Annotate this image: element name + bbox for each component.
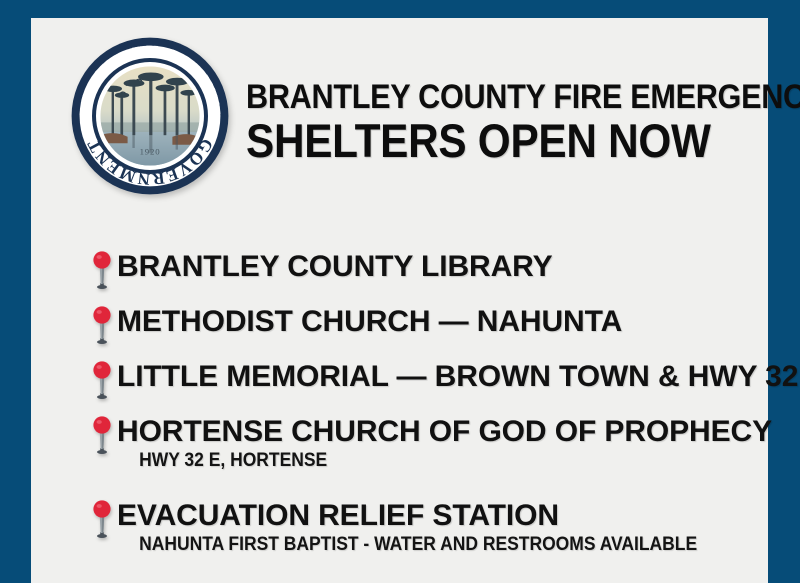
seal-year-text: 1920 [140,146,161,156]
map-pin-icon [89,415,115,455]
page-title-line-2: SHELTERS OPEN NOW [246,117,710,164]
poster-header: BRANTLEY COUNTY GOVERNMENT 1920 BRANTLEY… [31,18,768,218]
list-item: BRANTLEY COUNTY LIBRARY [31,250,768,284]
shelter-name: BRANTLEY COUNTY LIBRARY [117,250,553,283]
shelter-list: BRANTLEY COUNTY LIBRARY METHODIST CHURCH… [31,228,768,583]
brantley-county-government-seal-icon: BRANTLEY COUNTY GOVERNMENT 1920 [70,36,230,196]
list-item: HORTENSE CHURCH OF GOD OF PROPHECY HWY 3… [31,415,768,473]
shelter-name: METHODIST CHURCH — NAHUNTA [117,305,622,338]
poster-canvas: BRANTLEY COUNTY GOVERNMENT 1920 BRANTLEY… [31,18,768,583]
map-pin-icon [89,305,115,345]
list-item: EVACUATION RELIEF STATION NAHUNTA FIRST … [31,499,768,557]
shelter-name: EVACUATION RELIEF STATION [117,499,559,532]
county-seal: BRANTLEY COUNTY GOVERNMENT 1920 [70,36,230,196]
map-pin-icon [89,360,115,400]
list-item: LITTLE MEMORIAL — BROWN TOWN & HWY 32 [31,360,768,394]
page-title-line-1: BRANTLEY COUNTY FIRE EMERGENCY [246,80,710,114]
shelter-address: HWY 32 E, HORTENSE [117,449,716,473]
map-pin-icon [89,250,115,290]
list-item: METHODIST CHURCH — NAHUNTA [31,305,768,339]
shelter-name: HORTENSE CHURCH OF GOD OF PROPHECY [117,415,772,448]
shelter-name: LITTLE MEMORIAL — BROWN TOWN & HWY 32 [117,360,798,393]
map-pin-icon [89,499,115,539]
emergency-shelter-poster: BRANTLEY COUNTY GOVERNMENT 1920 BRANTLEY… [0,0,800,583]
poster-title-block: BRANTLEY COUNTY FIRE EMERGENCY SHELTERS … [246,80,762,164]
shelter-note: NAHUNTA FIRST BAPTIST - WATER AND RESTRO… [117,533,716,557]
